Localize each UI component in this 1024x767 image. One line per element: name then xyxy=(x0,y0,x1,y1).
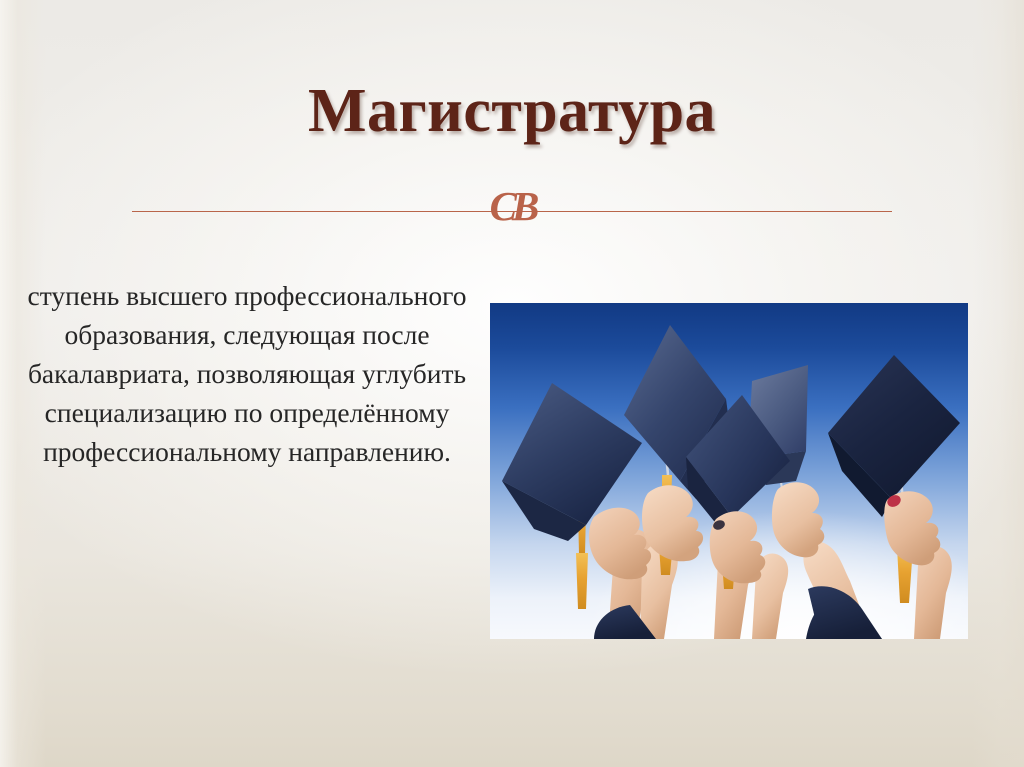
slide-title: Магистратура xyxy=(0,78,1024,145)
slide-body-text: ступень высшего профессионального образо… xyxy=(22,276,472,471)
decorative-divider: CB xyxy=(132,197,892,241)
divider-ornament-icon: CB xyxy=(488,186,537,227)
cap-right xyxy=(828,355,960,517)
presentation-slide: Магистратура CB ступень высшего професси… xyxy=(0,0,1024,767)
graduation-caps-illustration xyxy=(490,303,968,639)
graduation-caps-photo xyxy=(490,303,968,639)
